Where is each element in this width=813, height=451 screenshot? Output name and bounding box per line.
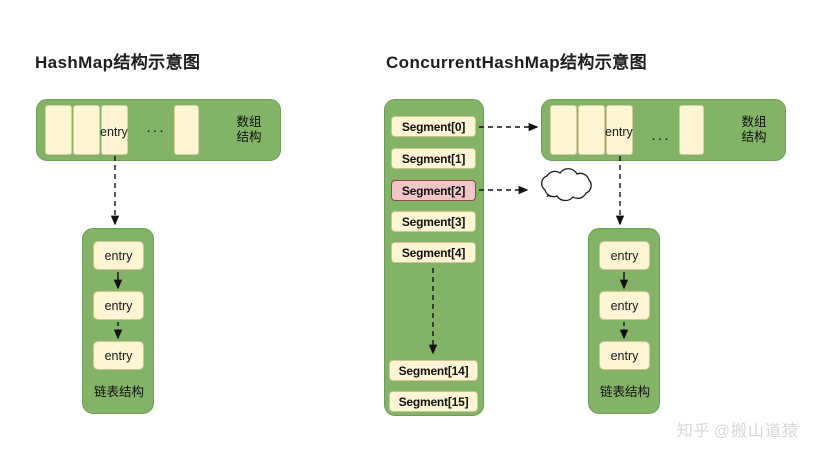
hashmap-list-entry: entry <box>93 241 144 270</box>
chm-list-struct-label: 链表结构 <box>596 385 654 400</box>
chm-array-cell <box>578 105 605 155</box>
hashmap-array-cell <box>45 105 72 155</box>
watermark-handle: @搬山道猿 <box>714 417 799 441</box>
hashmap-array-entry-label: entry <box>100 125 128 139</box>
hashmap-list-entry: entry <box>93 341 144 370</box>
hashmap-array-ellipsis: ··· <box>146 122 166 139</box>
watermark: 知乎 @搬山道猿 <box>677 417 799 441</box>
chm-array-ellipsis: ··· <box>651 130 671 147</box>
chm-list-entry: entry <box>599 341 650 370</box>
watermark-site: 知乎 <box>677 417 711 441</box>
diagram-canvas: HashMap结构示意图 entry ··· 数组 结构 entry entry… <box>0 0 813 451</box>
segment-item-1[interactable]: Segment[1] <box>391 148 476 169</box>
lock-unit-callout-label: 锁单元 <box>545 184 580 200</box>
hashmap-title: HashMap结构示意图 <box>35 48 200 73</box>
chm-array-cell <box>550 105 577 155</box>
chm-list-entry: entry <box>599 241 650 270</box>
segment-item-14[interactable]: Segment[14] <box>389 360 478 381</box>
hashmap-array-struct-label: 数组 结构 <box>229 115 269 145</box>
chm-list-entry: entry <box>599 291 650 320</box>
segment-item-4[interactable]: Segment[4] <box>391 242 476 263</box>
hashmap-list-struct-label: 链表结构 <box>90 385 148 400</box>
hashmap-array-cell <box>174 105 199 155</box>
chm-array-struct-label: 数组 结构 <box>734 115 774 145</box>
segment-item-0[interactable]: Segment[0] <box>391 116 476 137</box>
chm-array-entry-label: entry <box>605 125 633 139</box>
segment-item-3[interactable]: Segment[3] <box>391 211 476 232</box>
concurrenthashmap-title: ConcurrentHashMap结构示意图 <box>386 48 647 73</box>
segment-item-2[interactable]: Segment[2] <box>391 180 476 201</box>
hashmap-array-cell <box>73 105 100 155</box>
chm-array-cell <box>679 105 704 155</box>
hashmap-list-entry: entry <box>93 291 144 320</box>
segment-item-15[interactable]: Segment[15] <box>389 391 478 412</box>
